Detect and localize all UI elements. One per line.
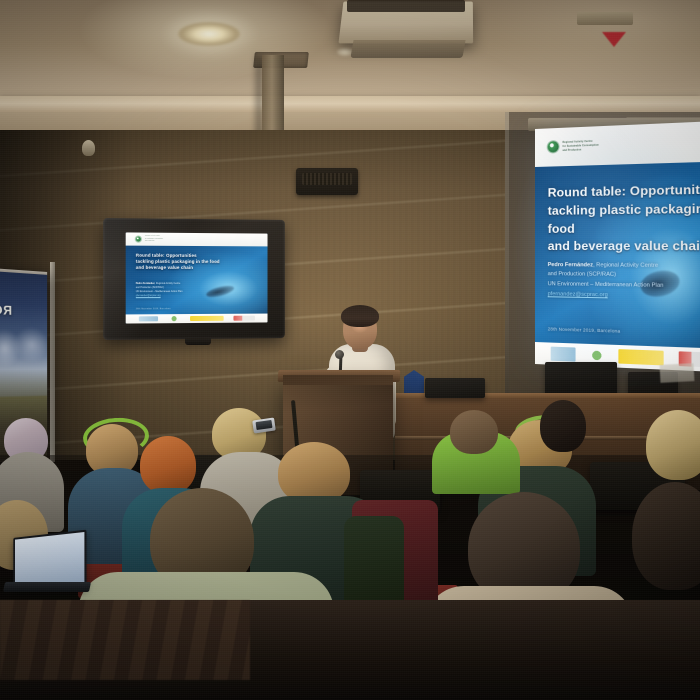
partner-logo-yellow-icon [618,349,664,365]
tv-byline-email: pfernandez@scprac.org [136,294,268,299]
microphone-head-icon [335,350,344,359]
attendee-ginger-head [140,436,196,494]
partner-logo-blue-icon [551,347,576,362]
tv-stand [185,338,211,345]
title-line-2: tackling plastic packaging in the food [548,199,700,238]
papers-on-desk [660,363,695,383]
tv-slide-footer-logos [126,314,268,324]
partner-logo-red-icon [234,316,255,321]
slide-logo-text: Regional Activity Centre for Sustainable… [563,140,599,153]
scp-rac-logo-icon [136,236,141,241]
projection-screen: Regional Activity Centre for Sustainable… [535,121,700,373]
slide-date: 28th November 2019, Barcelona [548,327,621,334]
attendee-patterned-head [278,442,350,504]
banner-pole [50,262,55,462]
tv-byline-name: Pedro Fernández [136,283,155,285]
tv-byline-aff-1: , Regional Activity Centre [155,283,181,285]
partner-logo-green-recycle-icon [590,348,604,363]
byline-email-link: pfernandez@scprac.org [548,290,700,304]
scp-rac-logo-icon [548,141,559,152]
logo-line-3: and Production [563,148,599,152]
tv-logo-line-1: Regional Activity Centre [145,236,163,238]
byline-affiliation-1: , Regional Activity Centre [593,262,658,269]
laptop-keyboard-base[interactable] [3,582,91,592]
speaker-hair [341,305,379,327]
ceiling-vent-2 [577,12,633,25]
projected-slide: Regional Activity Centre for Sustainable… [535,121,700,373]
tv-slide: Regional Activity Centre for Sustainable… [126,232,268,323]
wall-mounted-speaker [296,168,358,195]
attendee-green-jacket-head [450,410,498,454]
tv-slide-byline: Pedro Fernández, Regional Activity Centr… [136,282,268,299]
partner-logo-yellow-icon [190,316,223,322]
byline-name: Pedro Fernández [548,262,593,268]
conference-room-photograph: Regional Activity Centre for Sustainable… [0,0,700,700]
tv-logo-line-2: for Sustainable Consumption [145,238,163,239]
attendee-dark-hair-head [540,400,586,452]
partner-logo-blue-icon [138,316,157,321]
title-line-3: and beverage value chain [548,237,700,256]
dais-monitor-1 [425,378,485,398]
banner-headline: ЗОЯ [0,302,47,320]
tv-screen: Regional Activity Centre for Sustainable… [126,232,268,323]
tv-slide-date: 28th November 2019, Barcelona [136,308,171,310]
partner-logo-green-recycle-icon [169,316,179,321]
attendee-far-right-blonde-head [646,410,700,480]
tv-slide-header: Regional Activity Centre for Sustainable… [126,232,268,246]
fire-alarm-indicator-icon [602,32,626,47]
ceiling-downlight-1 [178,22,240,46]
banner-cloud-graphic [0,323,47,374]
tv-logo-text: Regional Activity Centre for Sustainable… [145,236,163,242]
projector-front-face [347,0,465,12]
slide-header: Regional Activity Centre for Sustainable… [535,121,700,167]
slide-title: Round table: Opportunities tackling plas… [548,180,700,257]
wall-mounted-flat-screen-tv[interactable]: Regional Activity Centre for Sustainable… [103,218,285,340]
title-line-1: Round table: Opportunities [548,180,700,203]
tv-logo-line-3: and Production [145,241,163,242]
tv-slide-title: Round table: Opportunities tackling plas… [136,253,268,272]
wooden-floor-planks [0,600,250,680]
slide-byline: Pedro Fernández, Regional Activity Centr… [548,261,700,305]
security-camera-icon [82,140,95,156]
tv-title-line-3: and beverage value chain [136,265,268,271]
projector-underside [350,40,465,58]
